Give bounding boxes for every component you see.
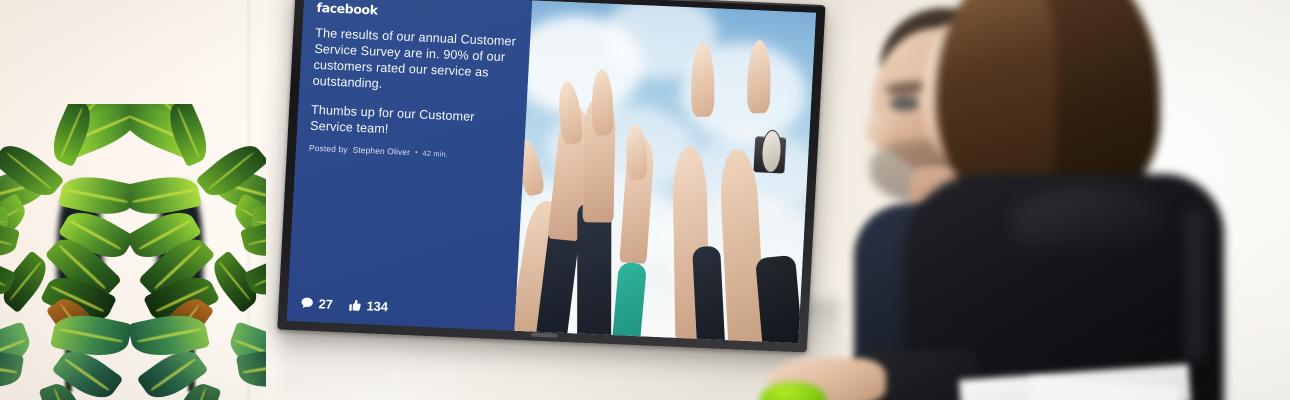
facebook-logo: facebook: [316, 0, 518, 24]
facebook-post-panel: facebook The results of our annual Custo…: [287, 0, 533, 331]
wall-highlight-glare: [910, 0, 1290, 400]
post-byline: Posted by Stephen Oliver • 42 min.: [309, 143, 511, 162]
office-scene: facebook The results of our annual Custo…: [0, 0, 1290, 400]
thumbs-up-icon: [348, 299, 362, 313]
post-body: The results of our annual Customer Servi…: [301, 26, 517, 304]
post-timestamp: 42 min.: [422, 148, 448, 158]
tv-screen[interactable]: facebook The results of our annual Custo…: [287, 0, 816, 343]
post-paragraph-2: Thumbs up for our Customer Service team!: [310, 103, 513, 143]
tv-brand-mark: [532, 333, 558, 338]
dark-sleeve: [577, 202, 611, 343]
post-author: Stephen Oliver: [352, 145, 410, 157]
wall-mounted-display[interactable]: facebook The results of our annual Custo…: [277, 0, 825, 353]
like-count: 134: [366, 298, 388, 314]
comment-stat[interactable]: 27: [300, 296, 333, 312]
comment-count: 27: [318, 296, 333, 312]
post-paragraph-1: The results of our annual Customer Servi…: [312, 26, 517, 98]
comment-icon: [300, 297, 314, 311]
thumb: [691, 44, 714, 117]
post-photo: [514, 0, 816, 343]
wall-corner-seam: [247, 0, 250, 400]
byline-separator: •: [415, 149, 418, 156]
byline-prefix: Posted by: [309, 143, 348, 155]
like-stat[interactable]: 134: [348, 298, 388, 315]
